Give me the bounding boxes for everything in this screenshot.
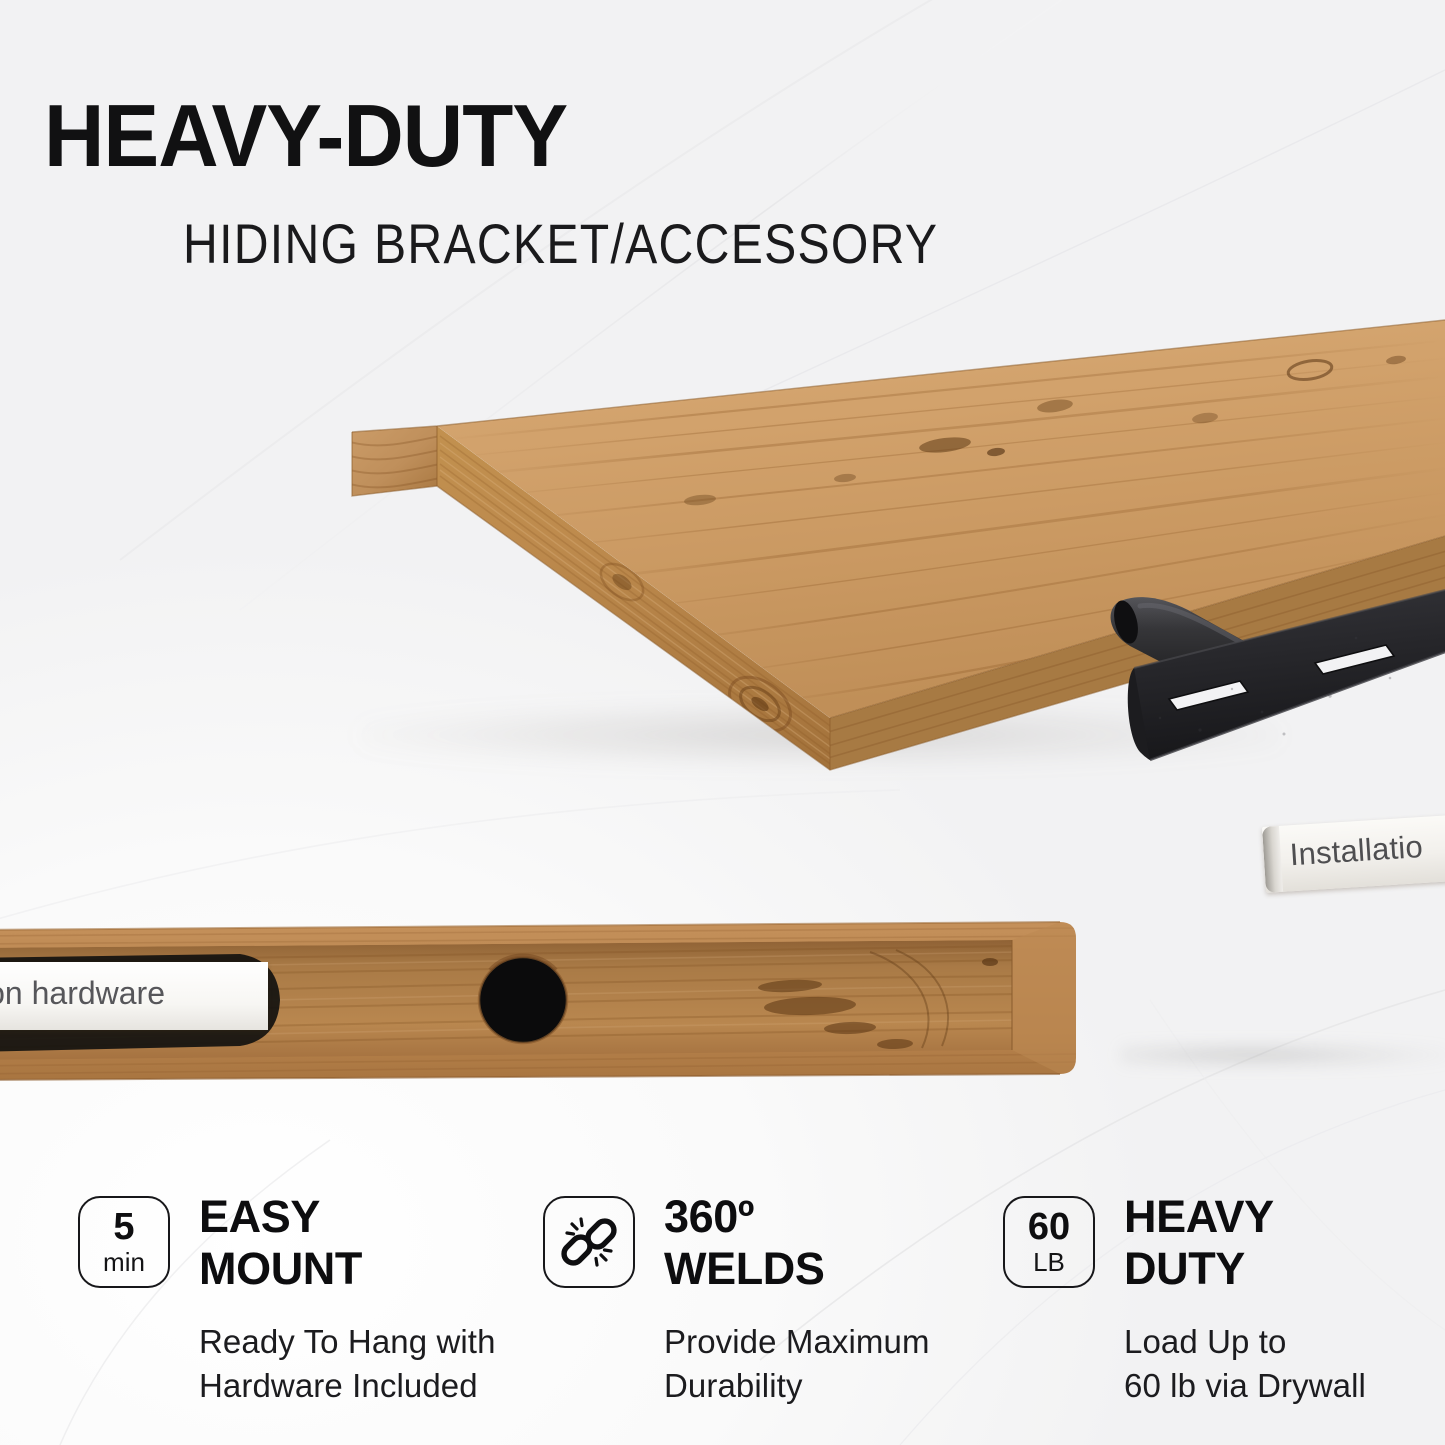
feature-description: Ready To Hang with Hardware Included — [199, 1320, 496, 1407]
feature-heavy-duty: 60 LB HEAVY DUTY Load Up to 60 lb via Dr… — [997, 1180, 1437, 1420]
feature-description: Load Up to 60 lb via Drywall — [1124, 1320, 1366, 1407]
chain-link-weld-icon — [543, 1198, 635, 1286]
feature-title: 360º WELDS — [664, 1191, 825, 1295]
bracket-drop-shadow — [1120, 1042, 1445, 1068]
badge-value: 5 — [113, 1209, 134, 1245]
card-spine — [1262, 826, 1283, 893]
badge-60-lb: 60 LB — [1003, 1196, 1095, 1288]
installation-card-text: Installatio — [1289, 829, 1424, 873]
black-bracket-illustration — [0, 300, 1445, 820]
badge-value: 60 — [1028, 1209, 1070, 1245]
hero-product-image: Installatio — [0, 300, 1445, 820]
hardware-card-text: ion hardware — [0, 975, 165, 1012]
feature-description: Provide Maximum Durability — [664, 1320, 930, 1407]
product-infographic: HEAVY-DUTY HIDING BRACKET/ACCESSORY — [0, 0, 1445, 1445]
installation-label-card: Installatio — [1262, 815, 1445, 893]
badge-unit: min — [103, 1249, 145, 1275]
badge-5-min: 5 min — [78, 1196, 170, 1288]
feature-easy-mount: 5 min EASY MOUNT Ready To Hang with Hard… — [72, 1180, 512, 1420]
page-subtitle: HIDING BRACKET/ACCESSORY — [183, 216, 938, 272]
badge-weld-icon — [543, 1196, 635, 1288]
feature-title: EASY MOUNT — [199, 1191, 362, 1295]
badge-unit: LB — [1033, 1249, 1065, 1275]
hardware-label-card: ion hardware — [0, 962, 268, 1030]
feature-360-welds: 360º WELDS Provide Maximum Durability — [537, 1180, 977, 1420]
page-title: HEAVY-DUTY — [44, 92, 567, 180]
feature-list: 5 min EASY MOUNT Ready To Hang with Hard… — [0, 1180, 1445, 1430]
feature-title: HEAVY DUTY — [1124, 1191, 1274, 1295]
